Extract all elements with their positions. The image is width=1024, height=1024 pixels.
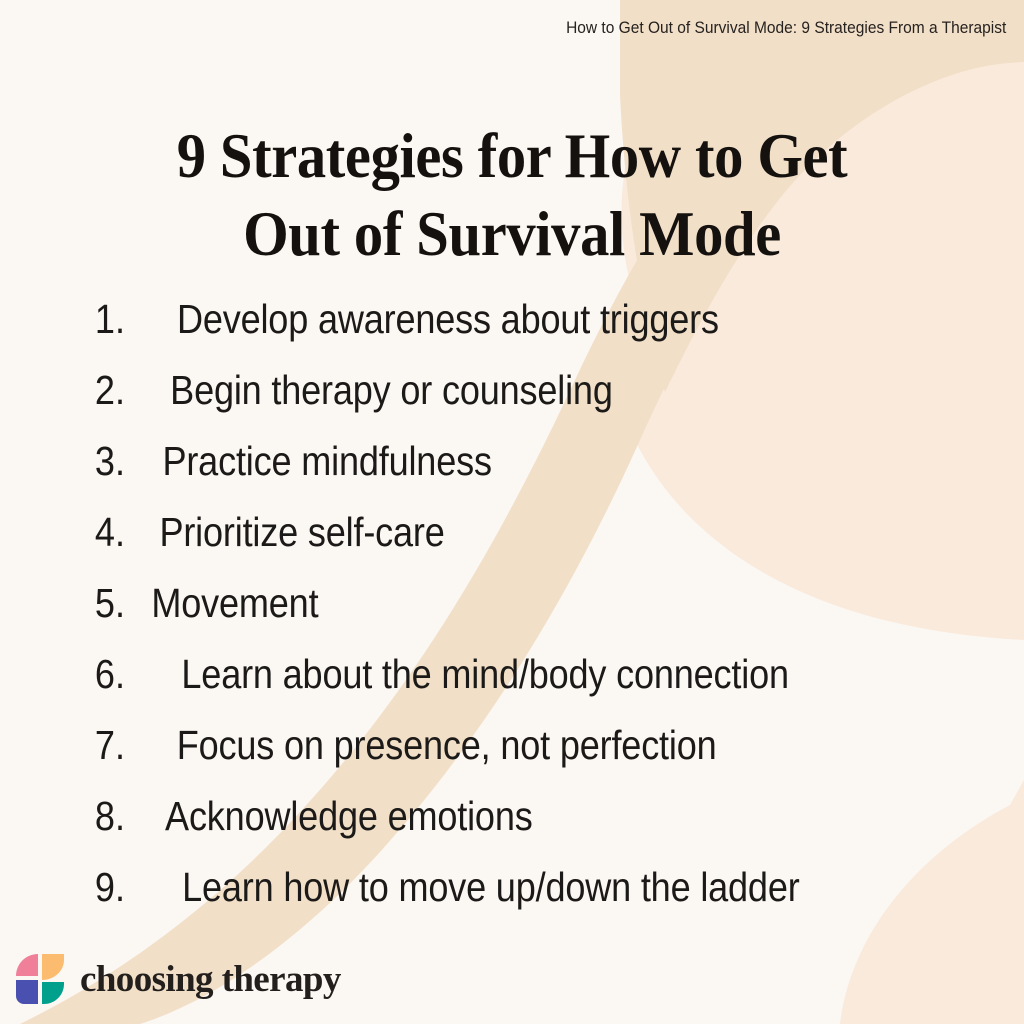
- list-item: 9. Learn how to move up/down the ladder: [92, 864, 972, 935]
- brand-logo[interactable]: choosing therapy: [16, 952, 341, 1006]
- page-title-line-1: 9 Strategies for How to Get: [120, 117, 905, 195]
- logo-quadrant-teal-icon: [42, 982, 64, 1004]
- list-item-label: Focus on presence, not perfection: [177, 722, 717, 769]
- list-item-number: 2.: [95, 367, 137, 414]
- page-title: 9 Strategies for How to Get Out of Survi…: [0, 117, 1024, 273]
- list-item: 5. Movement: [92, 580, 972, 651]
- list-item-number: 4.: [95, 509, 137, 556]
- list-item-number: 1.: [95, 296, 137, 343]
- list-item-label: Practice mindfulness: [162, 438, 491, 485]
- list-item-number: 8.: [95, 793, 137, 840]
- choosing-therapy-logo-mark: [16, 952, 64, 1006]
- list-item-label: Movement: [151, 580, 318, 627]
- list-item-number: 6.: [95, 651, 137, 698]
- list-item-label: Learn how to move up/down the ladder: [182, 864, 799, 911]
- list-item: 8. Acknowledge emotions: [92, 793, 972, 864]
- list-item-number: 5.: [95, 580, 137, 627]
- list-item-label: Develop awareness about triggers: [177, 296, 719, 343]
- header-title: How to Get Out of Survival Mode: 9 Strat…: [566, 19, 1006, 38]
- list-item-label: Prioritize self-care: [159, 509, 444, 556]
- list-item-label: Acknowledge emotions: [165, 793, 533, 840]
- list-item-label: Learn about the mind/body connection: [181, 651, 788, 698]
- list-item-number: 9.: [95, 864, 137, 911]
- logo-quadrant-blue-icon: [16, 980, 38, 1004]
- list-item: 1. Develop awareness about triggers: [92, 296, 972, 367]
- list-item-number: 3.: [95, 438, 137, 485]
- list-item: 7. Focus on presence, not perfection: [92, 722, 972, 793]
- logo-quadrant-pink-icon: [16, 954, 38, 976]
- list-item: 4. Prioritize self-care: [92, 509, 972, 580]
- list-item-label: Begin therapy or counseling: [170, 367, 613, 414]
- header-bar: How to Get Out of Survival Mode: 9 Strat…: [0, 0, 1024, 56]
- logo-quadrant-orange-icon: [42, 954, 64, 980]
- infographic-canvas: How to Get Out of Survival Mode: 9 Strat…: [0, 0, 1024, 1024]
- page-title-line-2: Out of Survival Mode: [120, 195, 905, 273]
- logo-wordmark: choosing therapy: [80, 961, 341, 998]
- list-item: 3. Practice mindfulness: [92, 438, 972, 509]
- strategy-list: 1. Develop awareness about triggers 2. B…: [92, 296, 972, 935]
- list-item: 6. Learn about the mind/body connection: [92, 651, 972, 722]
- list-item: 2. Begin therapy or counseling: [92, 367, 972, 438]
- list-item-number: 7.: [95, 722, 137, 769]
